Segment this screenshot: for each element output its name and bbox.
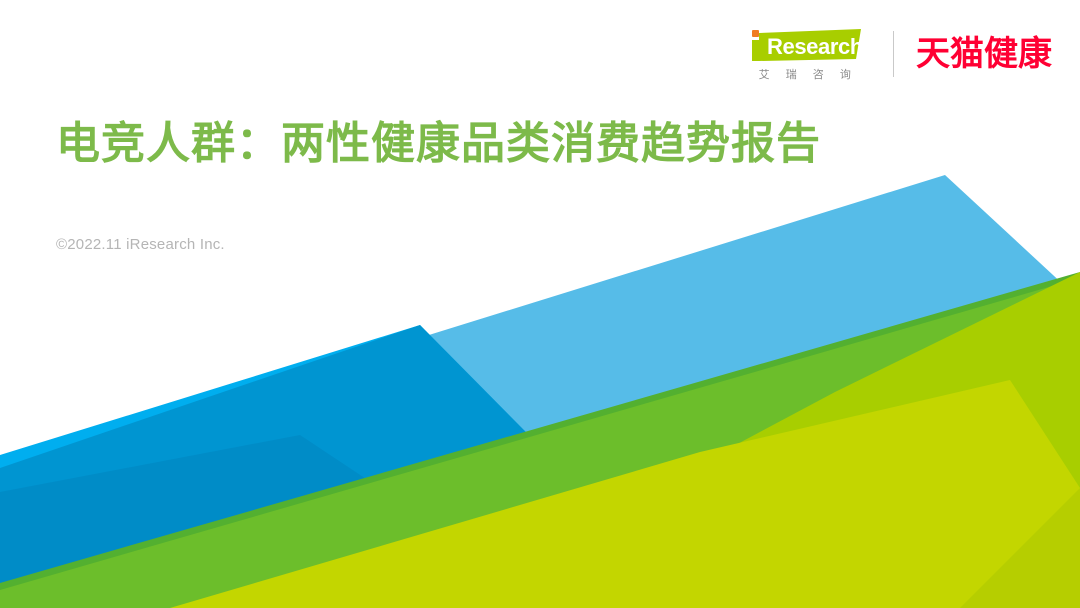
iresearch-logo: Research 艾 瑞 咨 询 [743, 27, 867, 81]
leaf-green-shape [0, 278, 1080, 608]
deep-blue-overlap-shape [0, 325, 700, 608]
logo-divider [893, 31, 894, 77]
lime-quad-shape [170, 380, 1080, 608]
title-block: 电竞人群：两性健康品类消费趋势报告 [56, 118, 821, 170]
green-landmass-shape [0, 272, 1080, 608]
report-cover-slide: Research 艾 瑞 咨 询 天猫健康 电竞人群：两性健康品类消费趋势报告 … [0, 0, 1080, 608]
lime-notch-shape [960, 488, 1080, 608]
teal-overlap-shape [0, 435, 560, 608]
copyright-notice: ©2022.11 iResearch Inc. [56, 236, 225, 253]
olive-green-shape [430, 272, 1080, 608]
cyan-wedge-shape [0, 325, 700, 608]
iresearch-logo-subtitle: 艾 瑞 咨 询 [753, 70, 858, 81]
background-artwork [0, 0, 1080, 608]
iresearch-wordmark-icon: Research [743, 27, 867, 65]
svg-text:Research: Research [767, 34, 863, 59]
partner-logo-tmall-health: 天猫健康 [916, 37, 1052, 71]
logo-bar: Research 艾 瑞 咨 询 天猫健康 [743, 22, 1052, 86]
page-title: 电竞人群：两性健康品类消费趋势报告 [56, 118, 821, 170]
